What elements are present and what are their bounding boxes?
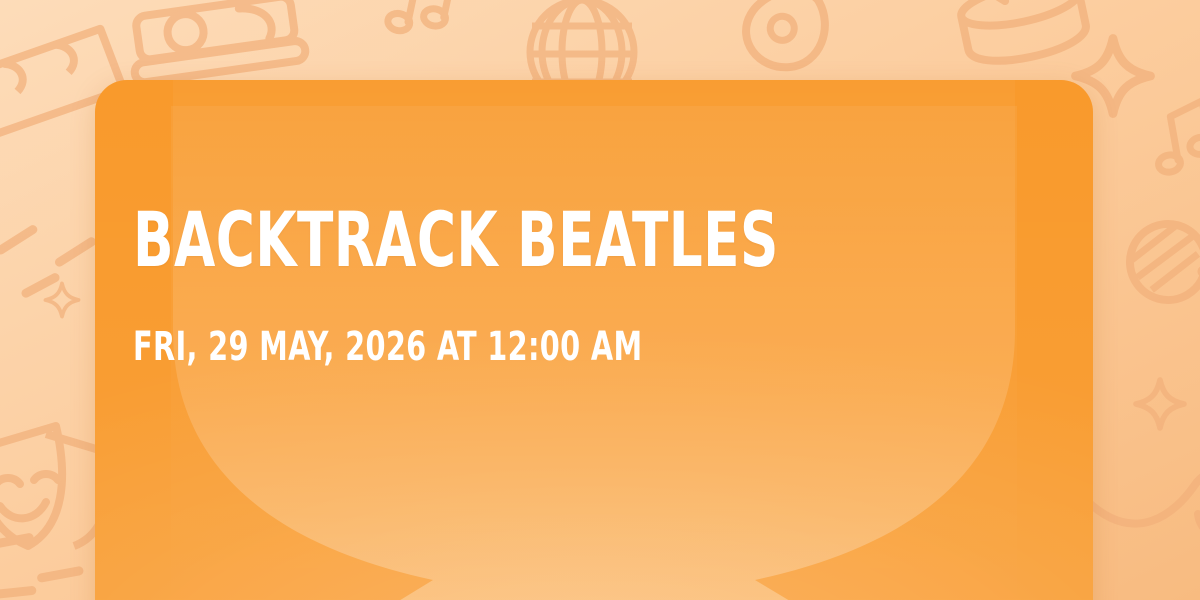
event-title: Backtrack Beatles: [133, 205, 835, 275]
event-banner: Backtrack Beatles Fri, 29 May, 2026 at 1…: [0, 0, 1200, 600]
event-card[interactable]: Backtrack Beatles Fri, 29 May, 2026 at 1…: [95, 80, 1093, 600]
event-text-block: Backtrack Beatles Fri, 29 May, 2026 at 1…: [133, 205, 1033, 367]
event-datetime: Fri, 29 May, 2026 at 12:00 AM: [133, 275, 853, 367]
